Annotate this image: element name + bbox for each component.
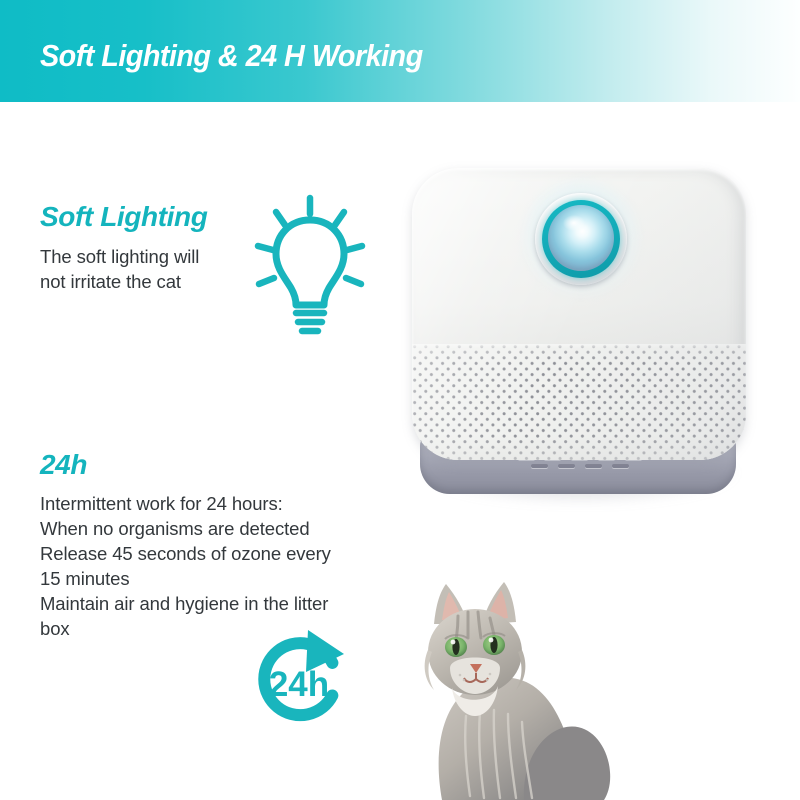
power-indicator-button[interactable]	[535, 193, 627, 285]
ozone-air-purifier-device	[408, 160, 752, 510]
feature-line: 15 minutes	[40, 566, 412, 591]
feature-heading-soft-lighting: Soft Lighting	[40, 200, 270, 234]
feature-body-24h: Intermittent work for 24 hours: When no …	[40, 491, 412, 641]
header-banner: Soft Lighting & 24 H Working	[0, 0, 800, 102]
feature-24h: 24h Intermittent work for 24 hours: When…	[40, 448, 412, 641]
feature-line: box	[40, 616, 412, 641]
infographic-page: Soft Lighting & 24 H Working Soft Lighti…	[0, 0, 800, 800]
device-body	[412, 168, 746, 460]
grey-tabby-cat-photo	[404, 576, 704, 800]
page-title: Soft Lighting & 24 H Working	[40, 34, 423, 78]
feature-line: When no organisms are detected	[40, 516, 412, 541]
24h-cycle-icon: 24h	[246, 628, 354, 738]
feature-body-soft-lighting: The soft lighting will not irritate the …	[40, 244, 270, 294]
feature-line: Maintain air and hygiene in the litter	[40, 591, 412, 616]
24h-icon-label: 24h	[269, 665, 329, 704]
indicator-dome	[548, 205, 614, 271]
feature-soft-lighting: Soft Lighting The soft lighting will not…	[40, 200, 270, 294]
indicator-highlight	[563, 215, 585, 231]
feature-line: not irritate the cat	[40, 269, 270, 294]
device-vent-grille	[412, 344, 746, 460]
feature-line: Release 45 seconds of ozone every	[40, 541, 412, 566]
feature-line: The soft lighting will	[40, 244, 270, 269]
light-bulb-icon	[252, 192, 368, 342]
feature-line: Intermittent work for 24 hours:	[40, 491, 412, 516]
feature-heading-24h: 24h	[40, 448, 412, 482]
